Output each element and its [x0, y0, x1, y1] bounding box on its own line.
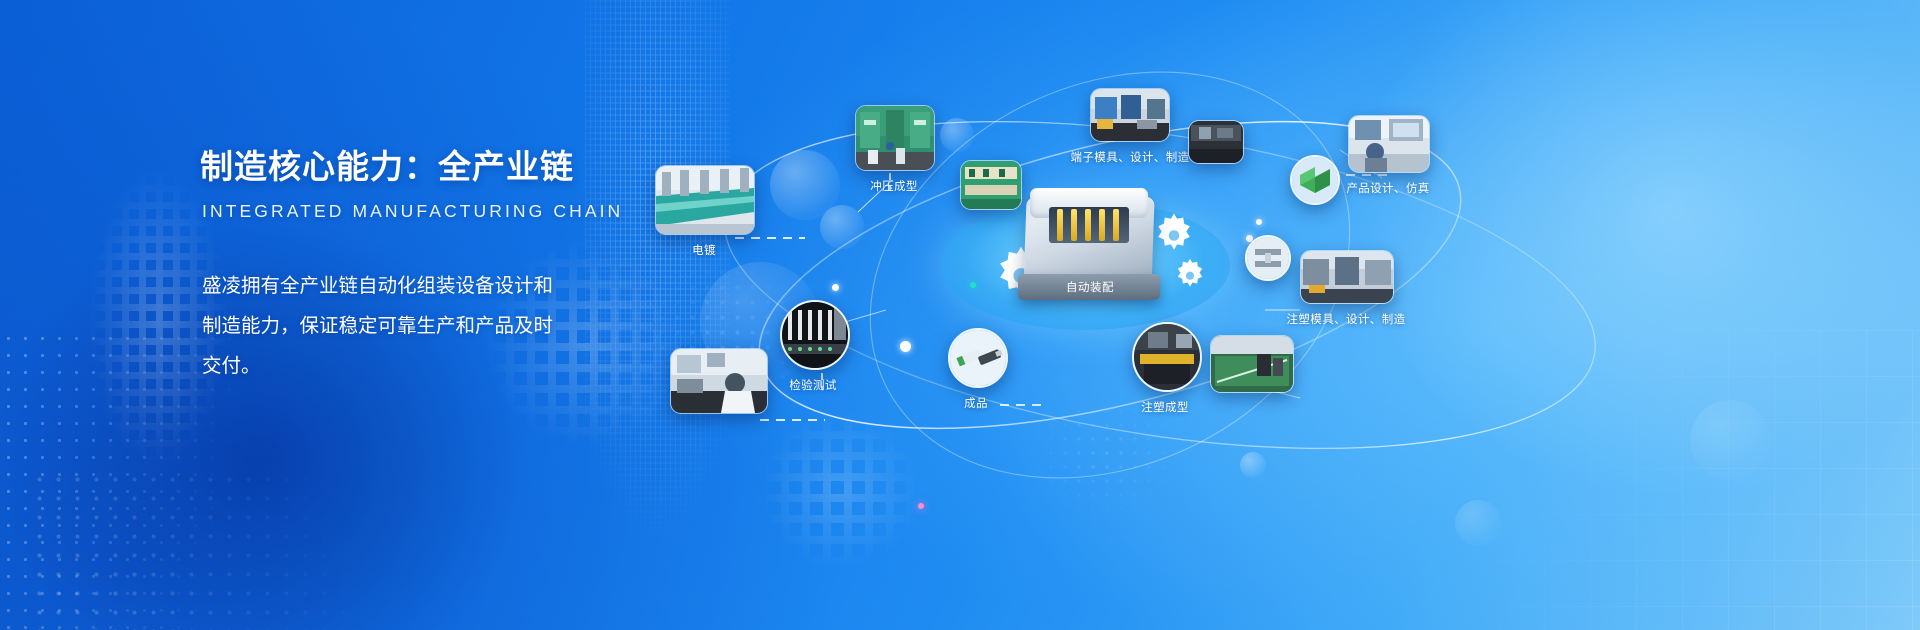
node-electroplating[interactable]: 电镀 — [655, 165, 755, 258]
mold-pin — [1057, 209, 1063, 241]
mold-pin — [1071, 209, 1077, 241]
mold-pin — [1113, 209, 1119, 241]
orbit-dot — [832, 284, 839, 291]
finished-product-photo — [948, 328, 1008, 388]
photo-test-fixture — [782, 302, 848, 368]
node-green-mold-icon[interactable] — [1290, 155, 1340, 205]
node-lab-photo[interactable] — [670, 348, 768, 414]
stamping-photo — [855, 105, 935, 171]
production-line-photo — [1210, 335, 1294, 393]
orbit-dot — [1256, 219, 1262, 225]
terminal-mold-photo — [1090, 88, 1170, 142]
node-label-injection-molding: 注塑成型 — [1120, 399, 1210, 415]
dot-grid-bottom-left — [30, 470, 360, 630]
node-machine-thumb[interactable] — [1188, 120, 1244, 164]
injection-mold-photo — [1300, 250, 1394, 304]
photo-machine-head — [1189, 121, 1243, 163]
node-product-design[interactable]: 产品设计、仿真 — [1348, 115, 1478, 196]
product-design-photo — [1348, 115, 1430, 173]
machine-photo — [1188, 120, 1244, 164]
clamp-photo — [1245, 235, 1291, 281]
electroplating-photo — [655, 165, 755, 235]
node-injection-mold[interactable]: 注塑模具、设计、制造 — [1300, 250, 1452, 327]
node-label-electroplating: 电镀 — [655, 242, 753, 258]
node-stamping[interactable]: 冲压成型 — [855, 105, 935, 194]
injection-molding-photo — [1132, 322, 1202, 392]
orbit-dot-pink — [918, 503, 924, 509]
green-mold-photo — [1290, 155, 1340, 205]
process-chain-diagram: 自动装配 电镀 — [640, 60, 1920, 580]
photo-connector-products — [950, 330, 1006, 386]
manufacturing-chain-banner: 制造核心能力：全产业链 INTEGRATED MANUFACTURING CHA… — [0, 0, 1920, 630]
orbit-dot — [900, 341, 911, 352]
inspection-test-photo — [780, 300, 850, 370]
node-finished-product[interactable]: 成品 — [948, 328, 1024, 411]
photo-terminal-mold-workshop — [1091, 89, 1169, 141]
photo-green-mold — [1292, 157, 1338, 203]
mold-pin — [1099, 209, 1105, 241]
page-title: 制造核心能力：全产业链 — [200, 146, 620, 187]
node-clamp-icon[interactable] — [1245, 235, 1291, 281]
node-pcb-thumb[interactable] — [960, 160, 1022, 210]
photo-injection-mold-shop — [1301, 251, 1393, 303]
node-inspection-testing[interactable]: 检验测试 — [780, 300, 874, 393]
photo-stamping-machines — [856, 106, 934, 170]
banner-paragraph: 盛凌拥有全产业链自动化组装设备设计和制造能力，保证稳定可靠生产和产品及时交付。 — [202, 266, 562, 386]
node-production-line[interactable] — [1210, 335, 1294, 393]
node-injection-molding[interactable]: 注塑成型 — [1132, 322, 1222, 415]
photo-electroplating-line — [656, 166, 754, 234]
node-label-product-design: 产品设计、仿真 — [1323, 180, 1453, 196]
center-label: 自动装配 — [1040, 279, 1140, 295]
gear-icon — [1152, 210, 1196, 254]
page-subtitle: INTEGRATED MANUFACTURING CHAIN — [202, 201, 620, 222]
gear-icon — [1173, 256, 1207, 290]
photo-injection-molding-machine — [1134, 324, 1200, 390]
photo-pcb-assembly — [961, 161, 1021, 209]
node-label-stamping: 冲压成型 — [855, 178, 933, 194]
orbit-dot-teal — [970, 282, 976, 288]
mold-pin — [1085, 209, 1091, 241]
photo-lab-operator — [671, 349, 767, 413]
lab-photo — [670, 348, 768, 414]
node-label-finished-product: 成品 — [938, 395, 1014, 411]
node-label-inspection-testing: 检验测试 — [766, 377, 860, 393]
photo-production-line — [1211, 336, 1293, 392]
pcb-photo — [960, 160, 1022, 210]
photo-clamp — [1247, 237, 1289, 279]
photo-design-office — [1349, 116, 1429, 172]
node-label-injection-mold: 注塑模具、设计、制造 — [1270, 311, 1422, 327]
banner-copy: 制造核心能力：全产业链 INTEGRATED MANUFACTURING CHA… — [200, 146, 620, 386]
